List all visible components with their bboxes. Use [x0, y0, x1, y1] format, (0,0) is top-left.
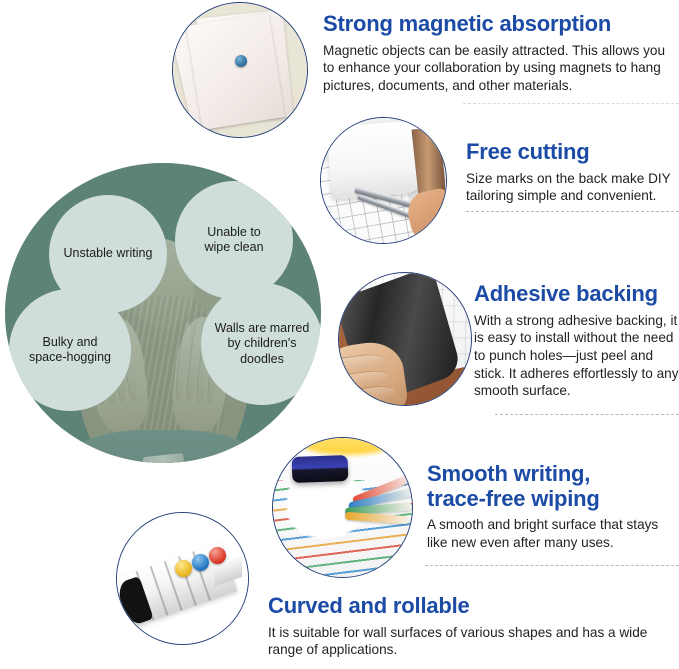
whiteboard-eraser	[292, 455, 348, 483]
magnetic-sheets-photo	[172, 2, 308, 138]
section-divider-2	[466, 211, 679, 212]
pain-bubble-bulky-and-space-hogging: Bulky and space-hogging	[9, 289, 131, 411]
eraser-and-markers-photo	[272, 437, 413, 578]
scissors-cutting-sheet-photo	[320, 117, 447, 244]
feature-body: With a strong adhesive backing, it is ea…	[474, 312, 679, 400]
yellow-magnet-button	[175, 560, 192, 577]
feature-free-cutting: Free cutting Size marks on the back make…	[466, 140, 678, 205]
red-magnet-button	[209, 547, 226, 564]
pain-points-circle: Unstable writing Unable to wipe clean Bu…	[5, 163, 321, 463]
infographic-canvas: Unstable writing Unable to wipe clean Bu…	[0, 0, 679, 669]
pain-bubble-label: Unable to wipe clean	[204, 225, 263, 256]
pain-bubble-label: Unstable writing	[64, 246, 153, 261]
feature-body: It is suitable for wall surfaces of vari…	[268, 624, 668, 659]
peeling-adhesive-sheet-photo	[338, 272, 472, 406]
section-divider-4	[425, 565, 679, 566]
feature-heading: Free cutting	[466, 140, 678, 165]
rolled-sheet-with-magnets-photo	[116, 512, 249, 645]
feature-heading: Curved and rollable	[268, 594, 668, 619]
pain-bubble-label: Walls are marred by children's doodles	[215, 321, 310, 367]
feature-strong-magnetic-absorption: Strong magnetic absorption Magnetic obje…	[323, 12, 675, 95]
pain-bubble-walls-are-marred: Walls are marred by children's doodles	[201, 283, 321, 405]
feature-heading: Strong magnetic absorption	[323, 12, 675, 37]
feature-body: Magnetic objects can be easily attracted…	[323, 42, 675, 95]
blue-magnet-dot	[235, 55, 247, 67]
section-divider-3	[495, 414, 679, 415]
blue-magnet-button	[192, 554, 209, 571]
feature-smooth-writing: Smooth writing, trace-free wiping A smoo…	[427, 462, 679, 552]
feature-heading: Smooth writing, trace-free wiping	[427, 462, 679, 511]
pain-bubble-unable-to-wipe-clean: Unable to wipe clean	[175, 181, 293, 299]
feature-heading: Adhesive backing	[474, 282, 679, 307]
pain-bubble-label: Bulky and space-hogging	[29, 335, 111, 366]
section-divider-1	[463, 103, 679, 104]
feature-curved-and-rollable: Curved and rollable It is suitable for w…	[268, 594, 668, 659]
feature-body: A smooth and bright surface that stays l…	[427, 516, 679, 551]
feature-body: Size marks on the back make DIY tailorin…	[466, 170, 678, 205]
feature-adhesive-backing: Adhesive backing With a strong adhesive …	[474, 282, 679, 400]
